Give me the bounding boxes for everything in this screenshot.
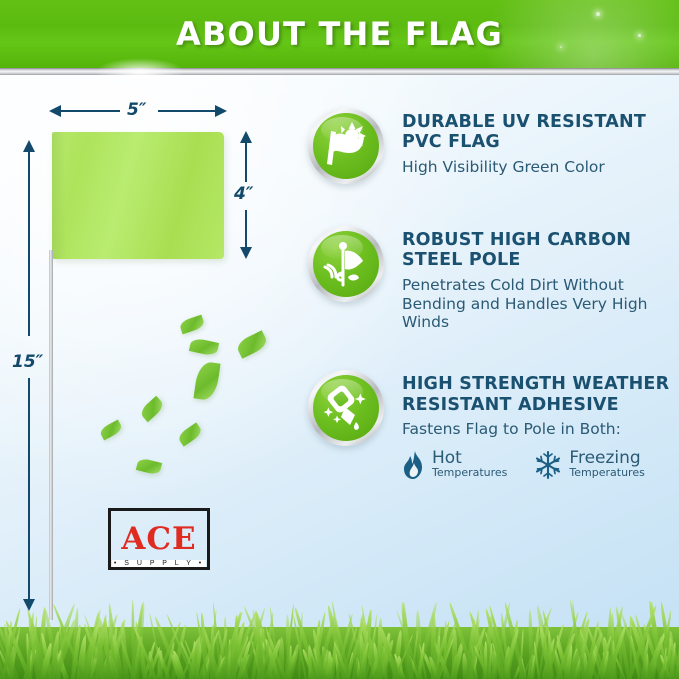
flag-pole-wind-glyph bbox=[319, 237, 373, 291]
temperature-main-label: Hot bbox=[432, 450, 507, 467]
temperature-item-freezing: Freezing Temperatures bbox=[533, 450, 644, 480]
width-arrow-right-icon bbox=[215, 105, 227, 117]
infographic-canvas: ABOUT THE FLAG 5″ 4″ 15″ ACE • S U P P L… bbox=[0, 0, 679, 679]
grass-blade bbox=[131, 600, 135, 679]
snowflake-icon bbox=[533, 450, 563, 480]
leaf-decoration bbox=[189, 337, 219, 357]
feature-item-steel-pole: ROBUST HIGH CARBON STEEL POLE Penetrates… bbox=[308, 226, 676, 332]
width-dimension-line-right bbox=[158, 110, 216, 112]
leaf-decoration bbox=[98, 420, 123, 441]
pole-label: 15″ bbox=[12, 352, 43, 372]
adhesive-glue-icon bbox=[308, 370, 384, 446]
width-label: 5″ bbox=[127, 100, 146, 120]
adhesive-glue-glyph bbox=[319, 381, 373, 435]
feature-title: HIGH STRENGTH WEATHER RESISTANT ADHESIVE bbox=[402, 374, 676, 415]
feature-description: Penetrates Cold Dirt Without Bending and… bbox=[402, 276, 676, 333]
leaf-decoration bbox=[176, 422, 203, 446]
feature-item-uv-resistant: DURABLE UV RESISTANT PVC FLAG High Visib… bbox=[308, 108, 676, 184]
feature-text: HIGH STRENGTH WEATHER RESISTANT ADHESIVE… bbox=[384, 370, 676, 480]
feature-text: DURABLE UV RESISTANT PVC FLAG High Visib… bbox=[384, 108, 676, 177]
logo-tagline: • S U P P L Y • bbox=[112, 560, 206, 567]
divider-glow bbox=[95, 58, 185, 86]
leaf-decoration bbox=[179, 315, 206, 335]
flag-sun-icon bbox=[308, 108, 384, 184]
feature-description: High Visibility Green Color bbox=[402, 158, 676, 177]
height-dimension-line-top bbox=[245, 142, 247, 182]
flag-pole-wind-icon bbox=[308, 226, 384, 302]
feature-title: DURABLE UV RESISTANT PVC FLAG bbox=[402, 112, 676, 153]
feature-description: Fastens Flag to Pole in Both: bbox=[402, 420, 676, 439]
width-dimension-line bbox=[60, 110, 120, 112]
leaf-decoration bbox=[193, 361, 220, 402]
temperature-item-hot: Hot Temperatures bbox=[402, 450, 507, 480]
temperature-sub-label: Temperatures bbox=[569, 467, 644, 480]
feature-item-adhesive: HIGH STRENGTH WEATHER RESISTANT ADHESIVE… bbox=[308, 370, 676, 480]
leaf-decoration bbox=[235, 330, 269, 358]
width-arrow-left-icon bbox=[49, 105, 61, 117]
leaf-decoration bbox=[136, 457, 162, 475]
flame-icon bbox=[402, 450, 426, 480]
flag-cloth bbox=[52, 132, 224, 259]
grass-strip bbox=[0, 593, 679, 679]
temperature-text: Freezing Temperatures bbox=[569, 450, 644, 480]
height-dimension-line-bottom bbox=[245, 210, 247, 248]
flag-pole bbox=[49, 250, 53, 620]
feature-list: DURABLE UV RESISTANT PVC FLAG High Visib… bbox=[308, 108, 676, 480]
logo-tagline-wrap: • S U P P L Y • bbox=[100, 556, 218, 567]
temperature-sub-label: Temperatures bbox=[432, 467, 507, 480]
temperature-text: Hot Temperatures bbox=[432, 450, 507, 480]
temperature-main-label: Freezing bbox=[569, 450, 644, 467]
pole-dimension-line-top bbox=[28, 151, 30, 336]
temperature-row: Hot Temperatures bbox=[402, 450, 676, 480]
feature-text: ROBUST HIGH CARBON STEEL POLE Penetrates… bbox=[384, 226, 676, 332]
height-label: 4″ bbox=[234, 184, 253, 204]
logo-brand-text: ACE bbox=[121, 524, 196, 555]
grass-blade bbox=[377, 618, 383, 679]
feature-title: ROBUST HIGH CARBON STEEL POLE bbox=[402, 230, 676, 271]
grass-blade bbox=[452, 629, 457, 679]
height-arrow-down-icon bbox=[240, 247, 252, 259]
pole-dimension-line-bottom bbox=[28, 378, 30, 600]
flag-sun-glyph bbox=[319, 119, 373, 173]
leaf-decoration bbox=[138, 396, 165, 422]
